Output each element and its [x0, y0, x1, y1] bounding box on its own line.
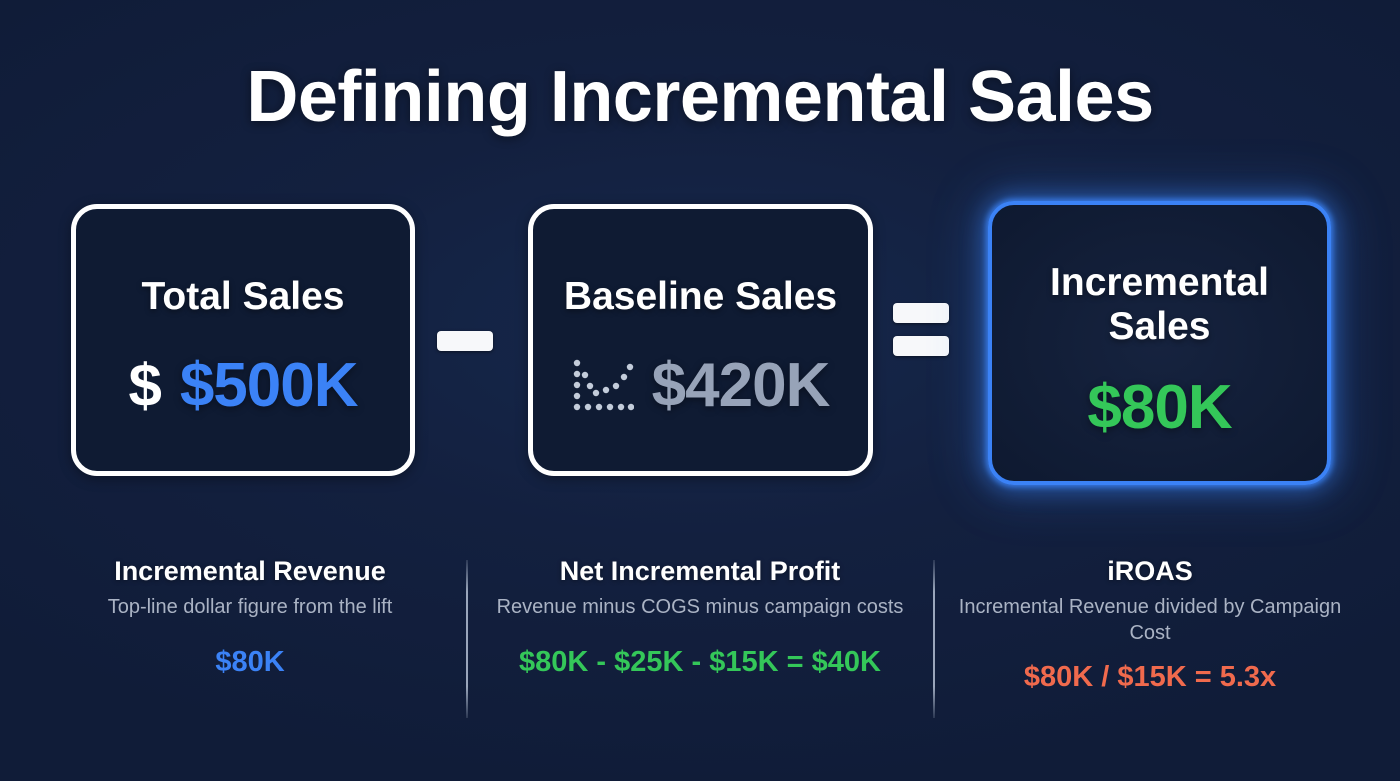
equals-operator [893, 303, 949, 356]
metric-net-incremental-profit: Net Incremental Profit Revenue minus COG… [478, 556, 922, 679]
card-incremental-sales-label-line2: Sales [1050, 305, 1269, 349]
metric-iroas-formula: $80K / $15K = 5.3x [940, 661, 1360, 694]
equals-bar-bottom [893, 336, 949, 356]
metric-net-incremental-profit-formula: $80K - $25K - $15K = $40K [478, 646, 922, 679]
metric-net-incremental-profit-title: Net Incremental Profit [478, 556, 922, 587]
card-incremental-sales[interactable]: Incremental Sales $80K [988, 201, 1331, 485]
metric-incremental-revenue-description: Top-line dollar figure from the lift [40, 594, 460, 620]
card-baseline-sales-value: $420K [652, 355, 830, 417]
card-incremental-sales-label: Incremental Sales [1050, 261, 1269, 348]
metric-iroas-title: iROAS [940, 556, 1360, 587]
metric-incremental-revenue-title: Incremental Revenue [40, 556, 460, 587]
card-total-sales-value: $500K [180, 355, 358, 417]
card-baseline-sales-label: Baseline Sales [564, 275, 837, 319]
metric-iroas: iROAS Incremental Revenue divided by Cam… [940, 556, 1360, 694]
card-total-sales-label: Total Sales [141, 275, 344, 319]
metrics-row: Incremental Revenue Top-line dollar figu… [0, 556, 1400, 726]
equation-row: Total Sales $ $500K Baseline Sales [0, 201, 1400, 491]
card-baseline-sales[interactable]: Baseline Sales [528, 204, 873, 476]
page-title: Defining Incremental Sales [0, 56, 1400, 138]
dotted-line-chart-icon [572, 357, 634, 415]
slide-canvas: Defining Incremental Sales Total Sales $… [0, 0, 1400, 781]
metric-incremental-revenue: Incremental Revenue Top-line dollar figu… [40, 556, 460, 679]
metric-incremental-revenue-formula: $80K [40, 646, 460, 679]
dollar-sign-icon: $ [128, 356, 161, 416]
minus-operator [437, 331, 493, 351]
card-incremental-sales-value: $80K [1087, 377, 1231, 439]
card-total-sales[interactable]: Total Sales $ $500K [71, 204, 415, 476]
minus-bar [437, 331, 493, 351]
card-incremental-sales-label-line1: Incremental [1050, 261, 1269, 305]
card-total-sales-value-row: $ $500K [128, 355, 357, 417]
metric-net-incremental-profit-description: Revenue minus COGS minus campaign costs [478, 594, 922, 620]
metric-iroas-description: Incremental Revenue divided by Campaign … [940, 594, 1360, 647]
card-incremental-sales-value-row: $80K [1087, 377, 1231, 439]
equals-bar-top [893, 303, 949, 323]
card-baseline-sales-value-row: $420K [572, 355, 830, 417]
